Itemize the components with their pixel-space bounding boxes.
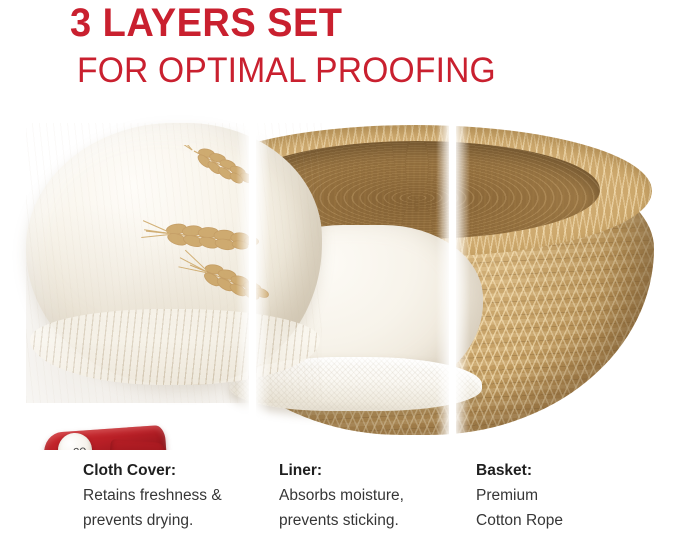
panel-divider-2: [449, 105, 456, 450]
page-title: 3 LAYERS SET: [70, 1, 343, 45]
caption-line-1: Premium: [476, 483, 656, 508]
caption-row: Cloth Cover: Retains freshness & prevent…: [0, 450, 679, 543]
panel-divider-1: [249, 105, 256, 450]
caption-cloth-cover: Cloth Cover: Retains freshness & prevent…: [83, 458, 263, 533]
cover-drawstring-tag: ce: [44, 425, 166, 450]
wheat-print-icon: [138, 145, 308, 335]
caption-line-2: prevents drying.: [83, 508, 263, 533]
product-image: ce: [0, 105, 679, 450]
header: 3 LAYERS SET FOR OPTIMAL PROOFING: [0, 0, 679, 105]
caption-basket: Basket: Premium Cotton Rope: [476, 458, 656, 533]
caption-heading: Liner:: [279, 458, 449, 483]
caption-line-2: Cotton Rope: [476, 508, 656, 533]
caption-line-2: prevents sticking.: [279, 508, 449, 533]
caption-heading: Basket:: [476, 458, 656, 483]
caption-liner: Liner: Absorbs moisture, prevents sticki…: [279, 458, 449, 533]
tag-toggle-label: ce: [72, 442, 86, 450]
page-subtitle: FOR OPTIMAL PROOFING: [77, 51, 496, 90]
caption-line-1: Absorbs moisture,: [279, 483, 449, 508]
caption-heading: Cloth Cover:: [83, 458, 263, 483]
caption-line-1: Retains freshness &: [83, 483, 263, 508]
cloth-cover-layer: [26, 123, 322, 403]
